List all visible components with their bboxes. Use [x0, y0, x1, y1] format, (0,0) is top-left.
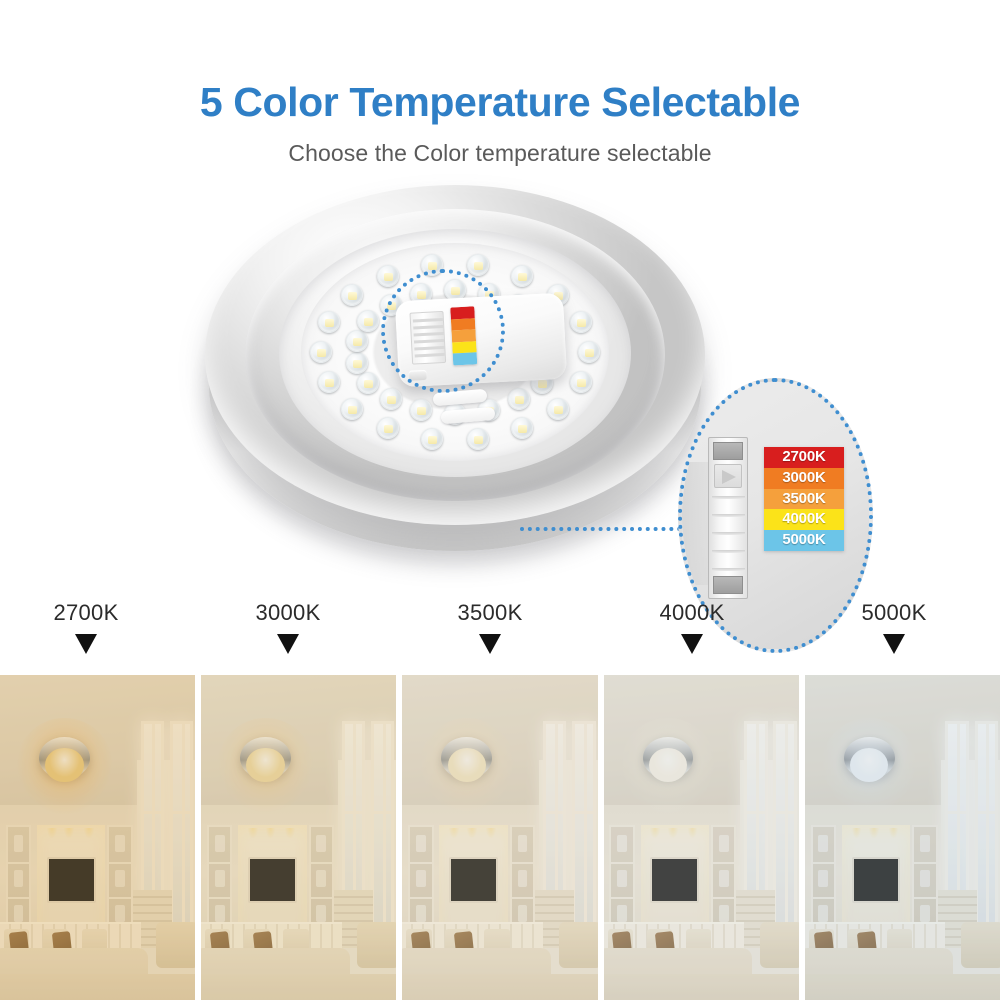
header: 5 Color Temperature Selectable Choose th… [0, 0, 1000, 167]
led-lens [341, 284, 363, 306]
color-band-3000k: 3000K [764, 468, 844, 489]
swatch-label-row: 2700K3000K3500K4000K5000K [0, 600, 1000, 675]
led-lens [357, 372, 379, 394]
room-scene [201, 675, 396, 1000]
color-temperature-highlight [201, 675, 396, 1000]
product-hero: 2700K3000K3500K4000K5000K [0, 175, 1000, 590]
swatch-label-text: 3000K [218, 600, 358, 626]
led-lens [570, 311, 592, 333]
swatch-label-4000k: 4000K [622, 600, 762, 654]
triangle-down-icon [75, 634, 97, 654]
slider-knob-triangle-right-icon[interactable] [714, 464, 742, 488]
room-panel-5000k [805, 675, 1000, 1000]
swatch-label-3000k: 3000K [218, 600, 358, 654]
led-lens [377, 265, 399, 287]
color-band-4000k: 4000K [764, 509, 844, 530]
swatch-label-3500k: 3500K [420, 600, 560, 654]
slider-cap-top [713, 442, 743, 460]
room-panel-3000k [201, 675, 396, 1000]
led-lens [318, 371, 340, 393]
color-band-5000k: 5000K [764, 530, 844, 551]
room-scene [805, 675, 1000, 1000]
swatch-label-text: 3500K [420, 600, 560, 626]
callout-connector-line [520, 527, 705, 531]
swatch-label-5000k: 5000K [824, 600, 964, 654]
color-temp-slider-switch[interactable] [708, 437, 748, 599]
led-lens [318, 311, 340, 333]
room-scene [604, 675, 799, 1000]
color-temperature-highlight [805, 675, 1000, 1000]
triangle-down-icon [681, 634, 703, 654]
room-preview-panels [0, 675, 1000, 1000]
led-lens [570, 371, 592, 393]
led-lens [341, 398, 363, 420]
led-lens [508, 388, 530, 410]
page-subtitle: Choose the Color temperature selectable [0, 140, 1000, 167]
triangle-down-icon [277, 634, 299, 654]
switch-highlight-circle [381, 269, 505, 393]
led-lens [357, 310, 379, 332]
triangle-down-icon [883, 634, 905, 654]
slider-cap-bottom [713, 576, 743, 594]
led-ceiling-fixture [205, 185, 705, 545]
color-temperature-highlight [0, 675, 195, 1000]
led-lens [511, 417, 533, 439]
room-scene [0, 675, 195, 1000]
led-lens [346, 330, 368, 352]
led-lens [547, 398, 569, 420]
swatch-label-2700k: 2700K [16, 600, 156, 654]
led-lens [410, 399, 432, 421]
room-scene [402, 675, 597, 1000]
led-lens [380, 388, 402, 410]
room-panel-4000k [604, 675, 799, 1000]
led-lens [310, 341, 332, 363]
led-lens [377, 417, 399, 439]
triangle-down-icon [479, 634, 501, 654]
room-panel-2700k [0, 675, 195, 1000]
room-panel-3500k [402, 675, 597, 1000]
swatch-label-text: 4000K [622, 600, 762, 626]
page-title: 5 Color Temperature Selectable [0, 80, 1000, 125]
color-temperature-highlight [604, 675, 799, 1000]
product-infographic: 5 Color Temperature Selectable Choose th… [0, 0, 1000, 1000]
swatch-label-text: 2700K [16, 600, 156, 626]
led-lens [467, 428, 489, 450]
led-lens [511, 265, 533, 287]
color-band-2700k: 2700K [764, 447, 844, 468]
swatch-label-text: 5000K [824, 600, 964, 626]
color-temperature-highlight [402, 675, 597, 1000]
color-temperature-bands: 2700K3000K3500K4000K5000K [764, 447, 844, 551]
led-lens [578, 341, 600, 363]
led-lens [467, 254, 489, 276]
led-lens [421, 428, 443, 450]
led-lens [346, 352, 368, 374]
color-band-3500k: 3500K [764, 489, 844, 510]
